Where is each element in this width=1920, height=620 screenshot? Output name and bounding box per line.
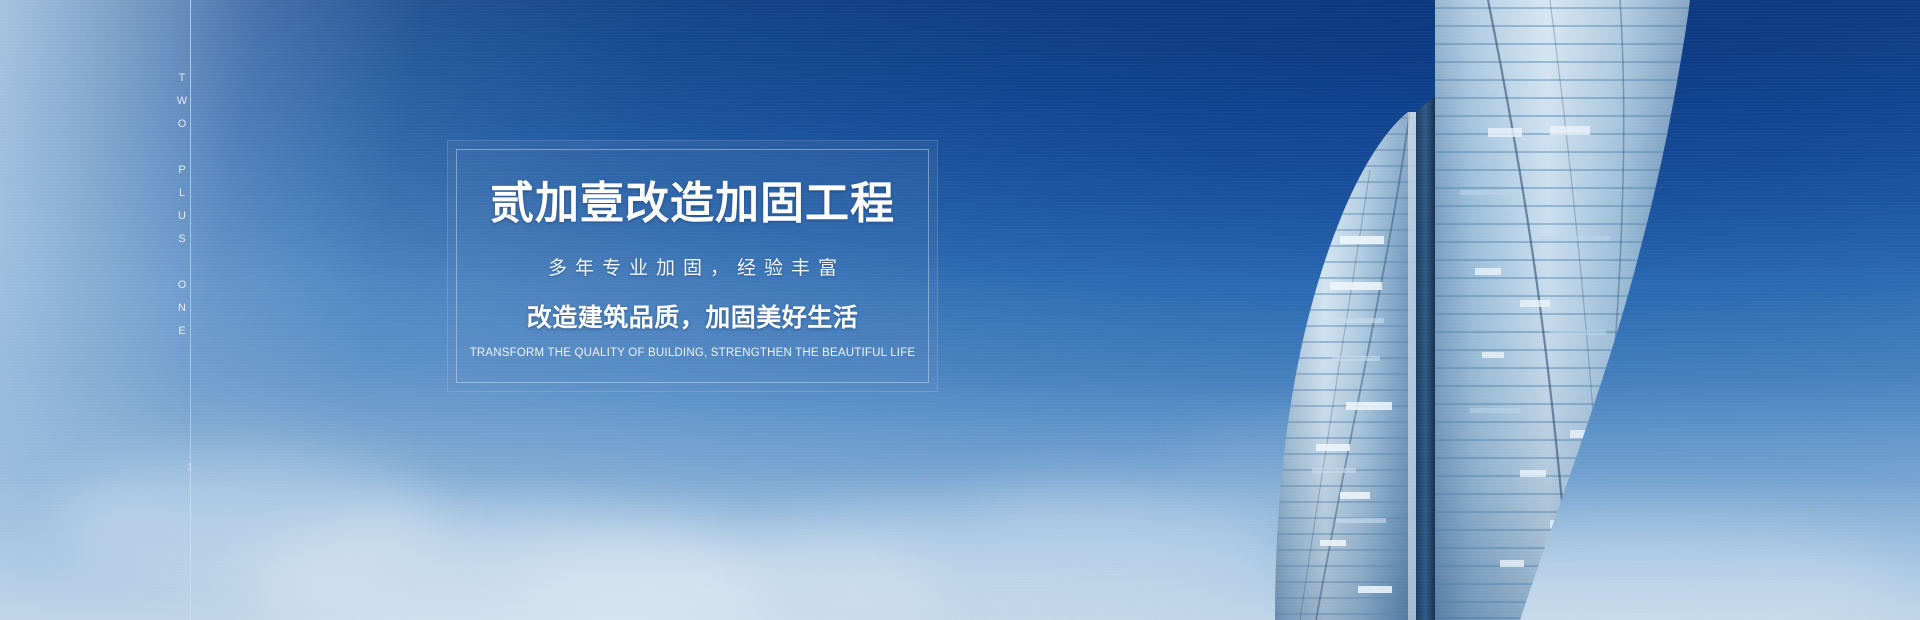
hero-headline: 贰加壹改造加固工程 [490, 182, 895, 226]
hero-text-panel: 贰加壹改造加固工程 多年专业加固，经验丰富 改造建筑品质，加固美好生活 TRAN… [447, 140, 938, 392]
hero-slogan: 改造建筑品质，加固美好生活 [527, 306, 859, 331]
vertical-divider-line [190, 0, 191, 620]
hero-tagline-english: TRANSFORM THE QUALITY OF BUILDING, STREN… [470, 348, 916, 360]
hero-subheadline: 多年专业加固，经验丰富 [540, 259, 845, 278]
towers-svg [1220, 0, 1920, 620]
vertical-bottom-mark: 1 [184, 462, 195, 476]
tower-front [1260, 90, 1430, 620]
skyscraper-illustration [1220, 0, 1920, 620]
hero-banner: TWO PLUS ONE 1 贰加壹改造加固工程 多年专业加固，经验丰富 改造建… [0, 0, 1920, 620]
tower-edge-highlight [1408, 112, 1416, 620]
brand-rail: TWO PLUS ONE 1 [150, 0, 240, 620]
tower-seam [1416, 96, 1435, 620]
panel-content: 贰加壹改造加固工程 多年专业加固，经验丰富 改造建筑品质，加固美好生活 TRAN… [447, 140, 938, 392]
tower-back [1420, 0, 1720, 620]
vertical-brand-text: TWO PLUS ONE [176, 72, 188, 348]
